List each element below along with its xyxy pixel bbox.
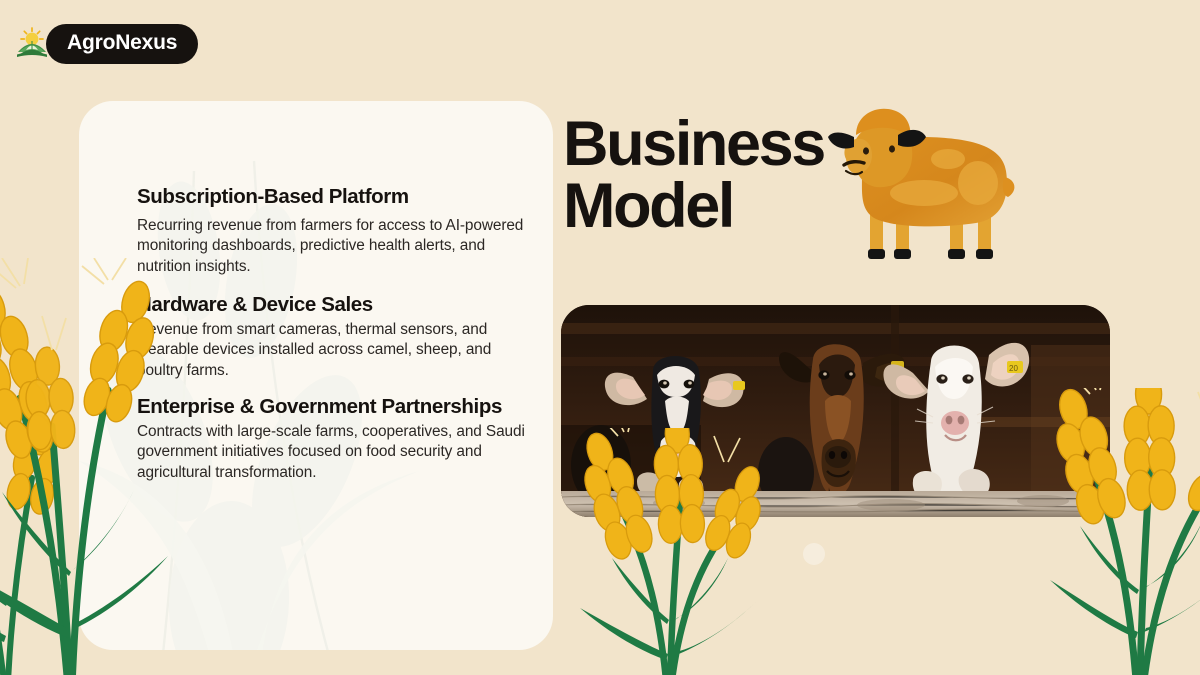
page-title-line-2: Model (563, 175, 893, 237)
block-1-body: Recurring revenue from farmers for acces… (137, 216, 537, 277)
brand-logo-group[interactable]: AgroNexus (12, 24, 198, 64)
block-3-body: Contracts with large-scale farms, cooper… (137, 422, 537, 483)
wheat-stalks-decoration-middle (556, 428, 786, 675)
image-watermark-icon (803, 543, 825, 565)
block-3-title: Enterprise & Government Partnerships (137, 395, 537, 420)
block-2-body: Revenue from smart cameras, thermal sens… (137, 320, 537, 381)
brand-name-pill[interactable]: AgroNexus (46, 24, 198, 64)
svg-text:20: 20 (1009, 364, 1018, 373)
sun-field-leaf-logo-icon (12, 24, 52, 64)
card-content: Subscription-Based Platform Recurring re… (137, 185, 537, 483)
page-title-line-1: Business (563, 113, 893, 175)
wheat-stalks-decoration-left (0, 258, 188, 675)
block-2-title: Hardware & Device Sales (137, 293, 537, 318)
model-block-2: Hardware & Device Sales Revenue from sma… (137, 293, 537, 381)
model-block-1: Subscription-Based Platform Recurring re… (137, 185, 537, 277)
block-1-title: Subscription-Based Platform (137, 185, 537, 210)
page-title: Business Model (563, 113, 893, 238)
wheat-stalks-decoration-right (1044, 388, 1200, 675)
slide-canvas: AgroNexus (0, 0, 1200, 675)
model-block-3: Enterprise & Government Partnerships Con… (137, 395, 537, 483)
